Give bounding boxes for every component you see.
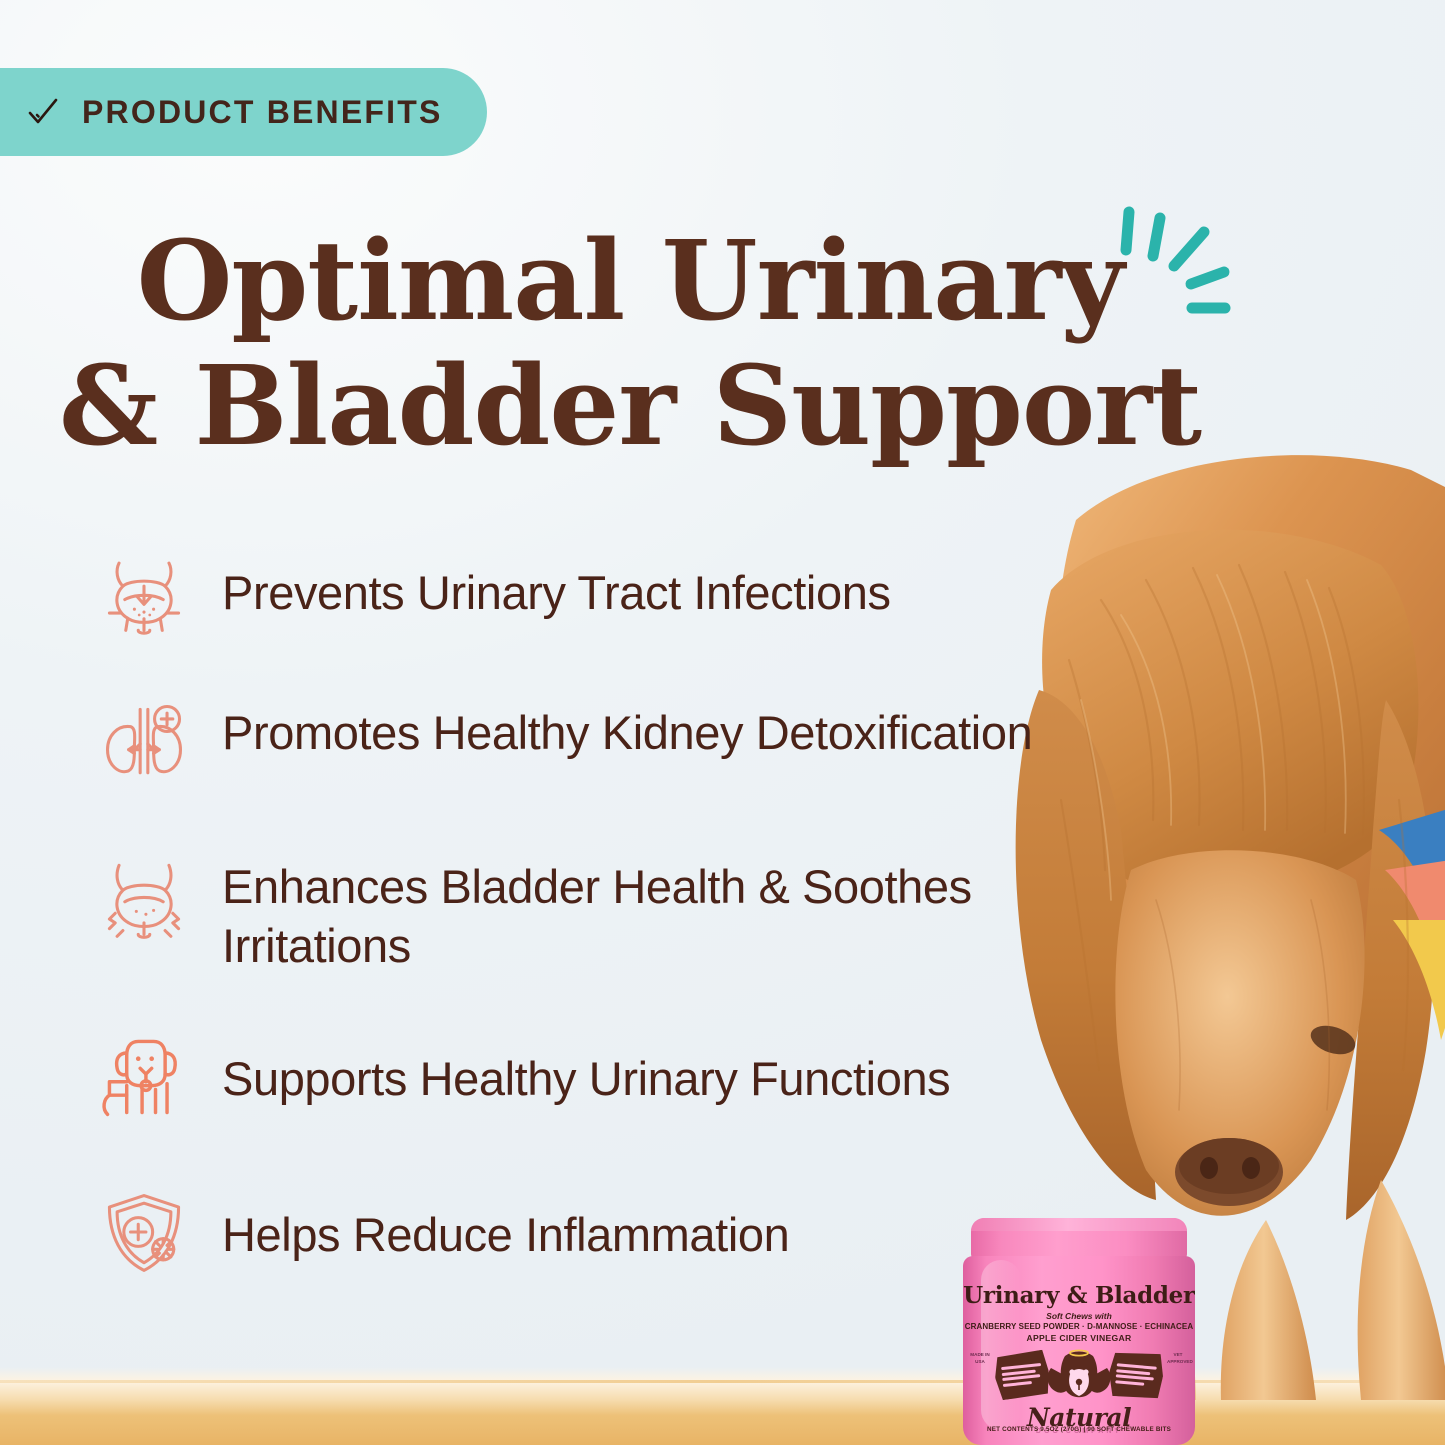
headline-line-2: & Bladder Support xyxy=(0,343,1260,468)
jar-net-contents: NET CONTENTS 9.5OZ (270G) | 90 SOFT CHEW… xyxy=(963,1426,1195,1433)
dog-icon xyxy=(88,1020,200,1132)
headline-line-1: Optimal Urinary xyxy=(0,218,1260,343)
benefit-item: Supports Healthy Urinary Functions xyxy=(88,1020,1068,1132)
jar-ingredients-line-1: CRANBERRY SEED POWDER · D-MANNOSE · ECHI… xyxy=(963,1322,1195,1331)
benefit-label: Helps Reduce Inflammation xyxy=(222,1176,1068,1265)
benefit-label: Prevents Urinary Tract Infections xyxy=(222,534,1068,623)
jar-subtitle: Soft Chews with xyxy=(963,1311,1195,1321)
jar-badge-left-text xyxy=(1001,1361,1043,1390)
product-jar: Urinary & Bladder Soft Chews with CRANBE… xyxy=(963,1218,1195,1445)
shield-plus-icon xyxy=(88,1176,200,1288)
jar-product-title: Urinary & Bladder xyxy=(963,1282,1195,1309)
benefit-label: Supports Healthy Urinary Functions xyxy=(222,1020,1068,1109)
benefits-list: Prevents Urinary Tract Infections Promot… xyxy=(88,520,1068,1332)
bladder-icon xyxy=(88,534,200,646)
page-title: Optimal Urinary & Bladder Support xyxy=(0,218,1260,469)
jar-body: Urinary & Bladder Soft Chews with CRANBE… xyxy=(963,1256,1195,1445)
boston-terrier-logo xyxy=(1043,1348,1115,1404)
infographic-canvas: PRODUCT BENEFITS Optimal Urinary & Bladd… xyxy=(0,0,1445,1445)
benefit-label: Promotes Healthy Kidney Detoxification xyxy=(222,686,1068,763)
benefit-item: Promotes Healthy Kidney Detoxification xyxy=(88,686,1068,798)
bladder-soothe-icon xyxy=(88,840,200,952)
benefit-label: Enhances Bladder Health & Soothes Irrita… xyxy=(222,840,1068,976)
sparkle-burst-icon xyxy=(1112,196,1262,326)
benefit-item: Enhances Bladder Health & Soothes Irrita… xyxy=(88,840,1068,976)
jar-lid-top xyxy=(971,1218,1187,1231)
check-icon xyxy=(26,95,60,129)
benefit-item: Helps Reduce Inflammation xyxy=(88,1176,1068,1288)
product-benefits-label: PRODUCT BENEFITS xyxy=(82,94,443,131)
product-benefits-badge: PRODUCT BENEFITS xyxy=(0,68,487,156)
jar-side-left-text: MADE IN USA xyxy=(969,1352,991,1366)
jar-ingredients-line-2: APPLE CIDER VINEGAR xyxy=(963,1333,1195,1343)
jar-badge-right xyxy=(1107,1350,1165,1401)
jar-badge-right-text xyxy=(1115,1361,1157,1389)
benefit-item: Prevents Urinary Tract Infections xyxy=(88,534,1068,646)
jar-side-right-text: VET APPROVED xyxy=(1167,1352,1189,1366)
kidney-icon xyxy=(88,686,200,798)
